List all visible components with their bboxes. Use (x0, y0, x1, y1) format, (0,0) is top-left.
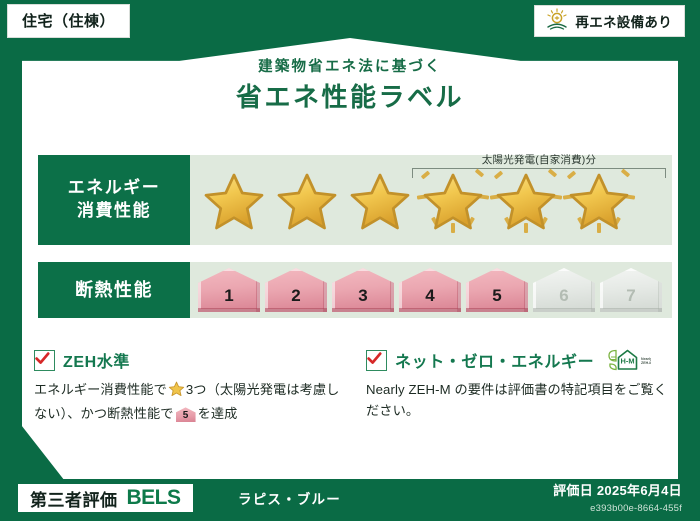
bels-mark: BELS (127, 486, 181, 510)
criterion-zeh: ZEH水準 エネルギー消費性能で3つ（太陽光発電は考慮しない）、かつ断熱性能で5… (34, 348, 344, 425)
svg-text:ZEH-M: ZEH-M (641, 361, 651, 365)
evaluation-date: 評価日 2025年6月4日 (553, 480, 682, 499)
insulation-rating-area: 1234567 (190, 262, 672, 318)
checkbox-checked-icon (366, 350, 387, 371)
checkbox-checked-icon (34, 350, 55, 371)
insulation-grade-number: 4 (425, 287, 434, 312)
energy-star-solar (490, 161, 562, 239)
insulation-grade-5: 5 (466, 268, 528, 312)
svg-text:H-M: H-M (621, 356, 635, 365)
energy-star-solar (417, 161, 489, 239)
third-party-eval-label: 第三者評価 (30, 486, 118, 511)
inline-grade-number: 5 (176, 407, 196, 422)
title-subtitle: 建築物省エネ法に基づく (0, 60, 700, 75)
bels-plate: 第三者評価 BELS (18, 484, 193, 512)
insulation-grade-4: 4 (399, 268, 461, 312)
inline-star-icon (168, 381, 185, 403)
energy-star-list (190, 155, 672, 245)
criterion-nze-header: ネット・ゼロ・エネルギー H-M Nearly ZEH-M (366, 348, 676, 372)
insulation-grade-1: 1 (198, 268, 260, 312)
star-icon (276, 172, 338, 232)
criterion-zeh-text-pre: エネルギー消費性能で (34, 382, 167, 397)
insulation-grade-number: 5 (492, 287, 501, 312)
inline-grade-badge: 5 (176, 407, 196, 422)
label-title-block: 建築物省エネ法に基づく 省エネ性能ラベル (0, 60, 700, 110)
building-type-tab: 住宅（住棟） (8, 5, 129, 37)
insulation-grade-number: 6 (559, 287, 568, 312)
bels-energy-label: 住宅（住棟） 再エネ設備あり 建築物省エネ法に基づく 省エネ性能ラベル (0, 0, 700, 521)
criterion-nze-body: Nearly ZEH-M の要件は評価書の特記項目をご覧ください。 (366, 379, 676, 422)
criteria-section: ZEH水準 エネルギー消費性能で3つ（太陽光発電は考慮しない）、かつ断熱性能で5… (34, 348, 676, 425)
zeh-m-logo-icon: H-M Nearly ZEH-M (605, 348, 651, 372)
insulation-performance-row: 断熱性能 1234567 (38, 262, 672, 318)
energy-label-line1: エネルギー (68, 177, 161, 200)
criterion-nze-title: ネット・ゼロ・エネルギー (395, 348, 594, 372)
insulation-performance-label: 断熱性能 (38, 262, 190, 318)
evaluation-id: e393b00e-8664-455f (590, 503, 682, 514)
title-main: 省エネ性能ラベル (0, 84, 700, 110)
insulation-grade-number: 7 (626, 287, 635, 312)
insulation-grade-number: 2 (291, 287, 300, 312)
star-icon (568, 172, 630, 232)
energy-star (344, 161, 416, 239)
energy-star-solar (563, 161, 635, 239)
renewable-energy-badge: 再エネ設備あり (535, 6, 684, 36)
criterion-zeh-text-post: を達成 (198, 406, 238, 421)
energy-label-line2: 消費性能 (77, 200, 151, 223)
insulation-grade-number: 1 (224, 287, 233, 312)
insulation-grade-number: 3 (358, 287, 367, 312)
insulation-grade-list: 1234567 (190, 262, 672, 318)
star-icon (495, 172, 557, 232)
sun-icon (545, 8, 569, 35)
property-name: ラピス・ブルー (238, 488, 341, 508)
insulation-grade-7: 7 (600, 268, 662, 312)
insulation-grade-2: 2 (265, 268, 327, 312)
energy-star (198, 161, 270, 239)
star-icon (203, 172, 265, 232)
energy-performance-label: エネルギー 消費性能 (38, 155, 190, 245)
building-type-label: 住宅（住棟） (22, 13, 115, 30)
label-footer: 第三者評価 BELS ラピス・ブルー 評価日 2025年6月4日 e393b00… (0, 477, 700, 521)
insulation-grade-3: 3 (332, 268, 394, 312)
energy-rating-area: 太陽光発電(自家消費)分 (190, 155, 672, 245)
insulation-grade-6: 6 (533, 268, 595, 312)
star-icon (349, 172, 411, 232)
insulation-label-text: 断熱性能 (75, 281, 153, 299)
criterion-zeh-title: ZEH水準 (63, 348, 130, 372)
energy-star (271, 161, 343, 239)
criterion-zeh-body: エネルギー消費性能で3つ（太陽光発電は考慮しない）、かつ断熱性能で5を達成 (34, 379, 344, 425)
renewable-badge-label: 再エネ設備あり (575, 11, 672, 31)
energy-performance-row: エネルギー 消費性能 太陽光発電(自家消費)分 (38, 155, 672, 245)
criterion-zeh-header: ZEH水準 (34, 348, 344, 372)
criterion-nze: ネット・ゼロ・エネルギー H-M Nearly ZEH-M (366, 348, 676, 425)
star-icon (422, 172, 484, 232)
